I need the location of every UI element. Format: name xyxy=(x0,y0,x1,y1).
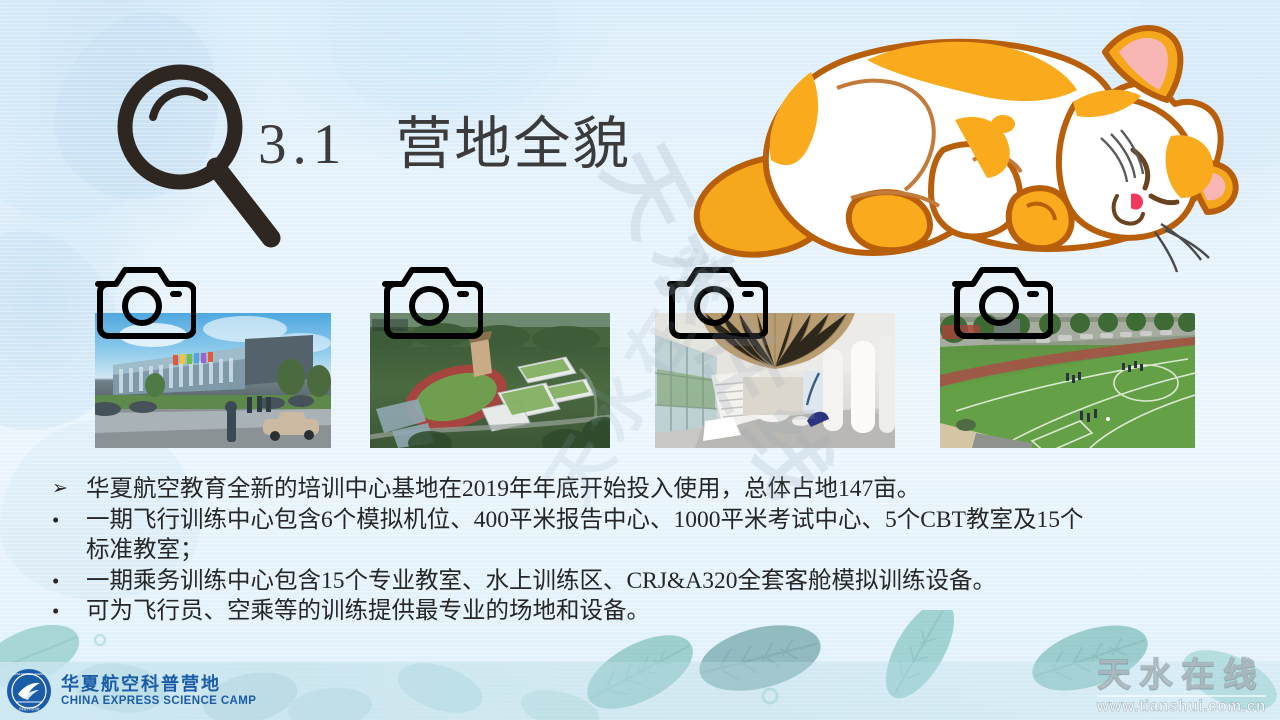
slide-canvas: 3.1营地全貌 xyxy=(0,0,1280,720)
bullet-arrow-marker: ➢ xyxy=(52,474,86,505)
page-title: 3.1营地全貌 xyxy=(258,98,631,180)
list-item: • 一期飞行训练中心包含6个模拟机位、400平米报告中心、1000平米考试中心、… xyxy=(52,505,1242,536)
brand-name-cn: 华夏航空科普营地 xyxy=(61,674,256,694)
list-item: • 一期乘务训练中心包含15个专业教室、水上训练区、CRJ&A320全套客舱模拟… xyxy=(52,566,1242,597)
bullet-text: 华夏航空教育全新的培训中心基地在2019年年底开始投入使用，总体占地147亩。 xyxy=(86,474,1242,505)
brand-logo-block: CHINA EXPRESS SCIENCE 华夏航空科普营地 华夏航空科普营地 … xyxy=(6,668,256,714)
camera-icon xyxy=(945,258,1053,344)
bullet-text: 一期飞行训练中心包含6个模拟机位、400平米报告中心、1000平米考试中心、5个… xyxy=(86,505,1242,536)
title-number: 3.1 xyxy=(258,113,347,176)
bullet-dot-marker: • xyxy=(52,566,86,597)
camera-icon xyxy=(88,258,196,344)
camera-icon xyxy=(660,258,768,344)
camera-icon xyxy=(375,258,483,344)
china-express-science-camp-logo: CHINA EXPRESS SCIENCE 华夏航空科普营地 xyxy=(6,668,52,714)
sleeping-cat-illustration xyxy=(655,8,1275,283)
svg-text:华夏航空科普营地: 华夏航空科普营地 xyxy=(19,707,40,711)
bullet-list: ➢ 华夏航空教育全新的培训中心基地在2019年年底开始投入使用，总体占地147亩… xyxy=(52,474,1242,627)
title-text: 营地全貌 xyxy=(395,113,631,176)
bullet-dot-marker: • xyxy=(52,505,86,536)
brand-name-en: CHINA EXPRESS SCIENCE CAMP xyxy=(61,694,256,708)
svg-text:CHINA EXPRESS SCIENCE: CHINA EXPRESS SCIENCE xyxy=(12,672,45,676)
bullet-text-continued: 标准教室； xyxy=(86,535,1242,566)
list-item: ➢ 华夏航空教育全新的培训中心基地在2019年年底开始投入使用，总体占地147亩… xyxy=(52,474,1242,505)
list-item-continuation: 标准教室； xyxy=(52,535,1242,566)
bullet-text: 一期乘务训练中心包含15个专业教室、水上训练区、CRJ&A320全套客舱模拟训练… xyxy=(86,566,1242,597)
